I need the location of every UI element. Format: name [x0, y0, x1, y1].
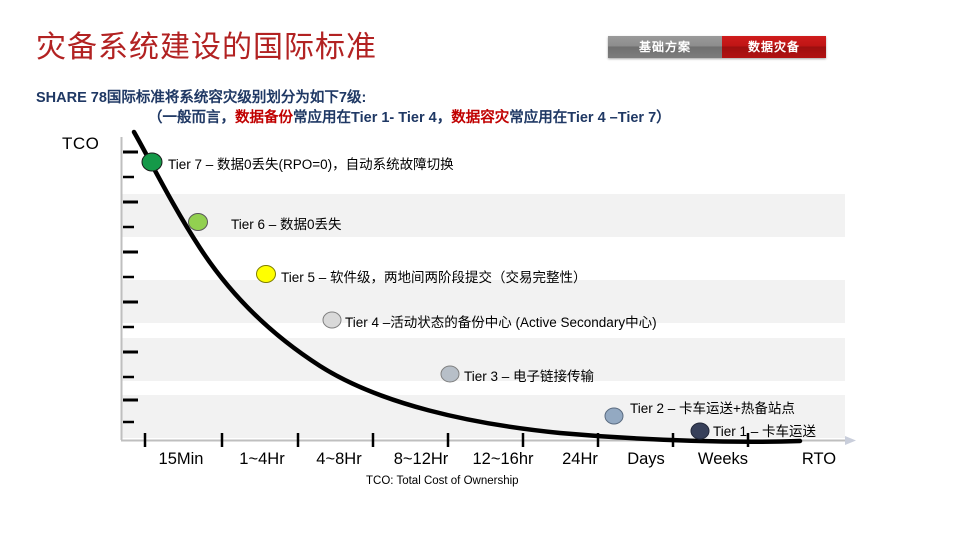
x-tick-label-4-8hr: 4~8Hr — [316, 450, 361, 469]
x-tick-label-15min: 15Min — [159, 450, 204, 469]
x-tick-label-24hr: 24Hr — [562, 450, 598, 469]
chart-footnote: TCO: Total Cost of Ownership — [366, 475, 519, 487]
tier-label-4: Tier 4 –活动状态的备份中心 (Active Secondary中心) — [345, 311, 657, 331]
tier-label-5: Tier 5 – 软件级，两地间两阶段提交（交易完整性） — [281, 266, 587, 286]
x-tick-label-12-16hr: 12~16hr — [472, 450, 533, 469]
data-point-tier-4[interactable] — [323, 312, 341, 328]
tier-label-7: Tier 7 – 数据0丢失(RPO=0)，自动系统故障切换 — [168, 153, 454, 173]
tier-label-1: Tier 1 – 卡车运送 — [713, 420, 816, 440]
x-axis-title-rto: RTO — [802, 450, 836, 469]
x-tick-label-1-4hr: 1~4Hr — [239, 450, 284, 469]
data-point-tier-1[interactable] — [691, 423, 709, 439]
x-tick-label-weeks: Weeks — [698, 450, 748, 469]
data-point-tier-3[interactable] — [441, 366, 459, 382]
x-tick-label-days: Days — [627, 450, 665, 469]
tier-label-6: Tier 6 – 数据0丢失 — [231, 213, 342, 233]
tier-label-3: Tier 3 – 电子链接传输 — [464, 365, 594, 385]
data-point-tier-7[interactable] — [142, 153, 162, 171]
y-axis-title: TCO — [62, 134, 99, 154]
x-axis-arrow-icon — [845, 436, 856, 445]
data-point-tier-6[interactable] — [189, 214, 208, 231]
x-tick-label-8-12hr: 8~12Hr — [394, 450, 449, 469]
slide-canvas: 灾备系统建设的国际标准 基础方案 数据灾备 SHARE 78国际标准将系统容灾级… — [0, 0, 960, 540]
data-point-tier-5[interactable] — [257, 266, 276, 283]
tier-label-2: Tier 2 – 卡车运送+热备站点 — [630, 397, 795, 417]
data-point-tier-2[interactable] — [605, 408, 623, 424]
